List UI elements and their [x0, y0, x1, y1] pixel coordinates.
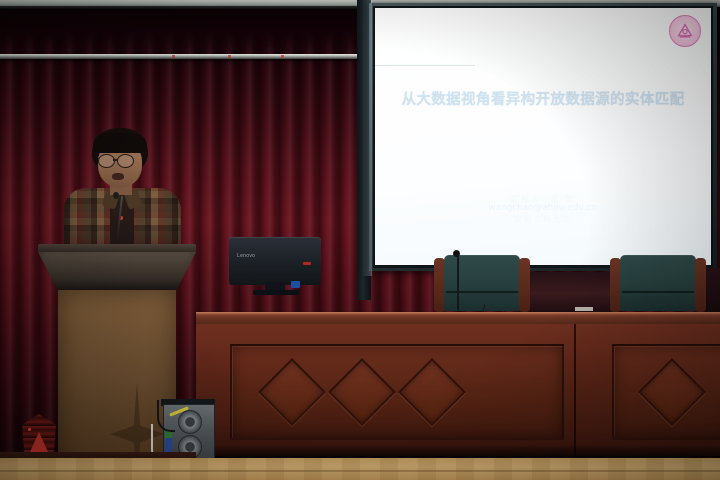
slide-title: 从大数据视角看异构开放数据源的实体匹配 [375, 88, 711, 109]
red-object-triangle [30, 432, 48, 452]
mouth [112, 173, 124, 180]
monitor-brand-label: Lenovo [237, 253, 255, 259]
table-base-shadow [196, 446, 720, 458]
glasses-bridge [113, 159, 118, 161]
red-indicator-led [28, 428, 31, 431]
lectern-reading-surface [38, 252, 196, 292]
curtain-rail [0, 54, 366, 59]
university-emblem-icon [669, 15, 701, 47]
presentation-photo: 从大数据视角看异构开放数据源的实体匹配 汇报人：王 某 wangchao@ahp… [0, 0, 720, 480]
monitor-vga-connector [291, 281, 300, 288]
cable-black [157, 400, 175, 432]
presenter [60, 128, 185, 253]
chair-backrest [620, 255, 696, 311]
monitor-panel [229, 237, 321, 285]
table-edge-highlight [196, 312, 720, 315]
desktop-monitor-rear: Lenovo [229, 237, 321, 295]
chair-arm-right [519, 258, 530, 312]
chair-seam [622, 291, 694, 293]
hair-fringe [93, 133, 147, 153]
slide-email-line: wangchao@ahpu.edu.cn [375, 203, 711, 213]
tower-fan-upper [178, 410, 202, 434]
table-microphone-stem [457, 254, 459, 310]
slide-divider-rule [375, 65, 475, 66]
paper-sheet [575, 307, 593, 311]
projection-screen: 从大数据视角看异构开放数据源的实体匹配 汇报人：王 某 wangchao@ahp… [375, 8, 711, 265]
glasses-lens-right [117, 154, 134, 168]
chair-backrest [444, 255, 520, 311]
conference-chair-right [610, 255, 706, 315]
rail-marker [228, 55, 231, 58]
chair-arm-right [695, 258, 706, 312]
floor-plank-seam [0, 470, 720, 472]
table-joint-seam [574, 324, 576, 456]
podium-microphone-head [113, 192, 119, 199]
wooden-floor-left [0, 452, 196, 480]
monitor-red-accent [303, 262, 311, 265]
rail-marker [281, 55, 284, 58]
monitor-stand-base [253, 290, 299, 295]
ceiling-rail [0, 6, 362, 9]
rail-marker [172, 55, 175, 58]
back-wall-panel [520, 272, 612, 314]
slide-affiliation-line: 安徽工程大学 [375, 214, 711, 225]
glasses-lens-left [98, 154, 115, 168]
